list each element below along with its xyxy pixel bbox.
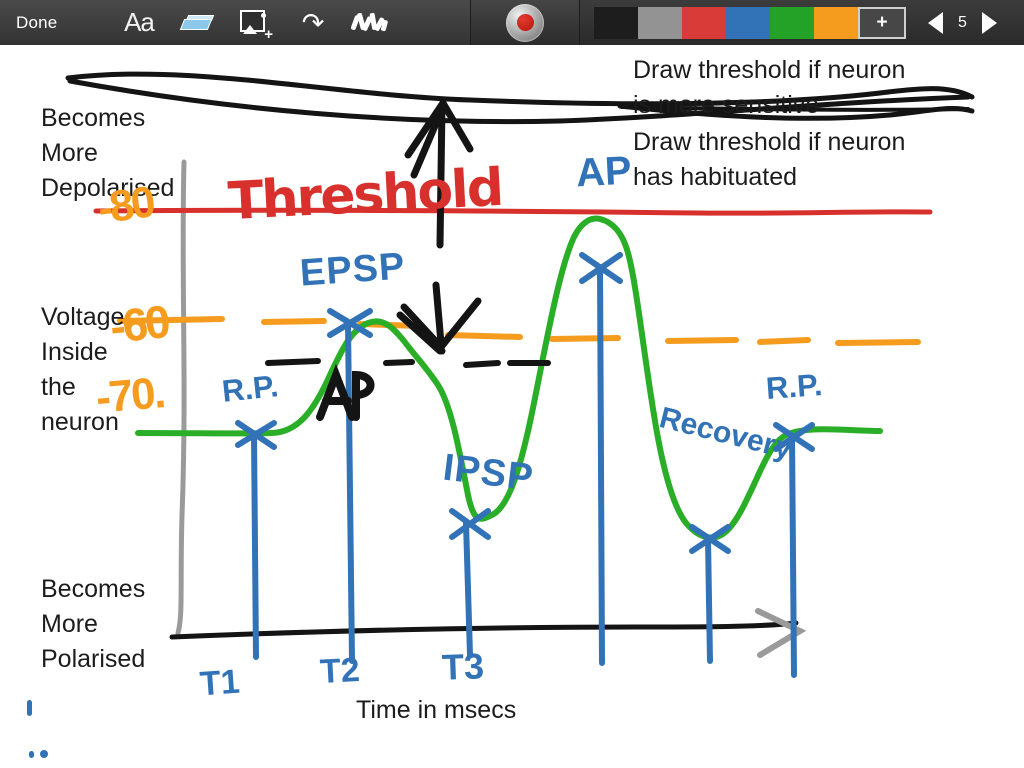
next-page-button[interactable] [982, 12, 997, 34]
handwritten-t2: T2 [319, 651, 361, 692]
color-swatch-orange[interactable] [814, 7, 858, 39]
note-draw-threshold-habituated: Draw threshold if neuron has habituated [633, 125, 905, 195]
text-tool-label: Aa [124, 7, 154, 38]
threshold-line-red [96, 210, 930, 213]
undo-icon: ↷ [302, 11, 325, 35]
toolbar: Done Aa + ↷ [0, 0, 1024, 45]
record-button[interactable] [506, 4, 544, 42]
epsp-level-line-orange [120, 319, 918, 343]
image-plus-icon: + [240, 10, 270, 36]
record-icon [517, 14, 534, 31]
handwritten-rp-left: R.P. [220, 368, 280, 410]
handwritten-ap-right: AP [575, 149, 633, 197]
stray-blue-dots [27, 700, 48, 758]
handwritten-epsp: EPSP [299, 245, 407, 295]
x-axis-line [172, 611, 800, 655]
done-button[interactable]: Done [16, 13, 76, 33]
prev-page-button[interactable] [928, 12, 943, 34]
handwritten-value-80: -80 [95, 177, 156, 234]
annotation-arrows-black [400, 103, 478, 351]
page-number: 5 [958, 14, 967, 32]
toolbar-tools-group: Done Aa + ↷ [0, 0, 470, 45]
color-swatch-gray[interactable] [638, 7, 682, 39]
insert-image-button[interactable]: + [226, 0, 284, 45]
color-swatch-red[interactable] [682, 7, 726, 39]
undo-button[interactable]: ↷ [284, 0, 342, 45]
handwritten-t3: T3 [441, 645, 484, 688]
text-tool-button[interactable]: Aa [110, 0, 168, 45]
add-color-button[interactable]: + [858, 7, 906, 39]
label-becomes-more-polarised: Becomes More Polarised [41, 572, 145, 677]
color-swatch-black[interactable] [594, 7, 638, 39]
color-swatch-blue[interactable] [726, 7, 770, 39]
handwritten-t1: T1 [199, 663, 241, 705]
handwritten-value-70: -70. [94, 368, 166, 424]
x-axis-label: Time in msecs [356, 693, 516, 728]
color-palette: + [594, 7, 906, 39]
page-pager: 5 [928, 12, 997, 34]
notes-app: Done Aa + ↷ [0, 0, 1024, 768]
dash-overdraw-black [268, 361, 548, 365]
drawing-canvas[interactable]: Becomes More Depolarised Voltage Inside … [0, 45, 1024, 768]
y-axis-line [178, 162, 184, 633]
handwritten-value-60: -60 [107, 294, 170, 354]
scribble-icon [351, 11, 391, 35]
note-draw-threshold-sensitive: Draw threshold if neuron is more sensiti… [633, 53, 905, 123]
handwritten-rp-right: R.P. [765, 367, 824, 407]
toolbar-color-group: + 5 [580, 0, 1024, 45]
eraser-icon [180, 14, 214, 32]
scribble-tool-button[interactable] [342, 0, 400, 45]
color-swatch-green[interactable] [770, 7, 814, 39]
record-group [470, 0, 580, 45]
eraser-tool-button[interactable] [168, 0, 226, 45]
